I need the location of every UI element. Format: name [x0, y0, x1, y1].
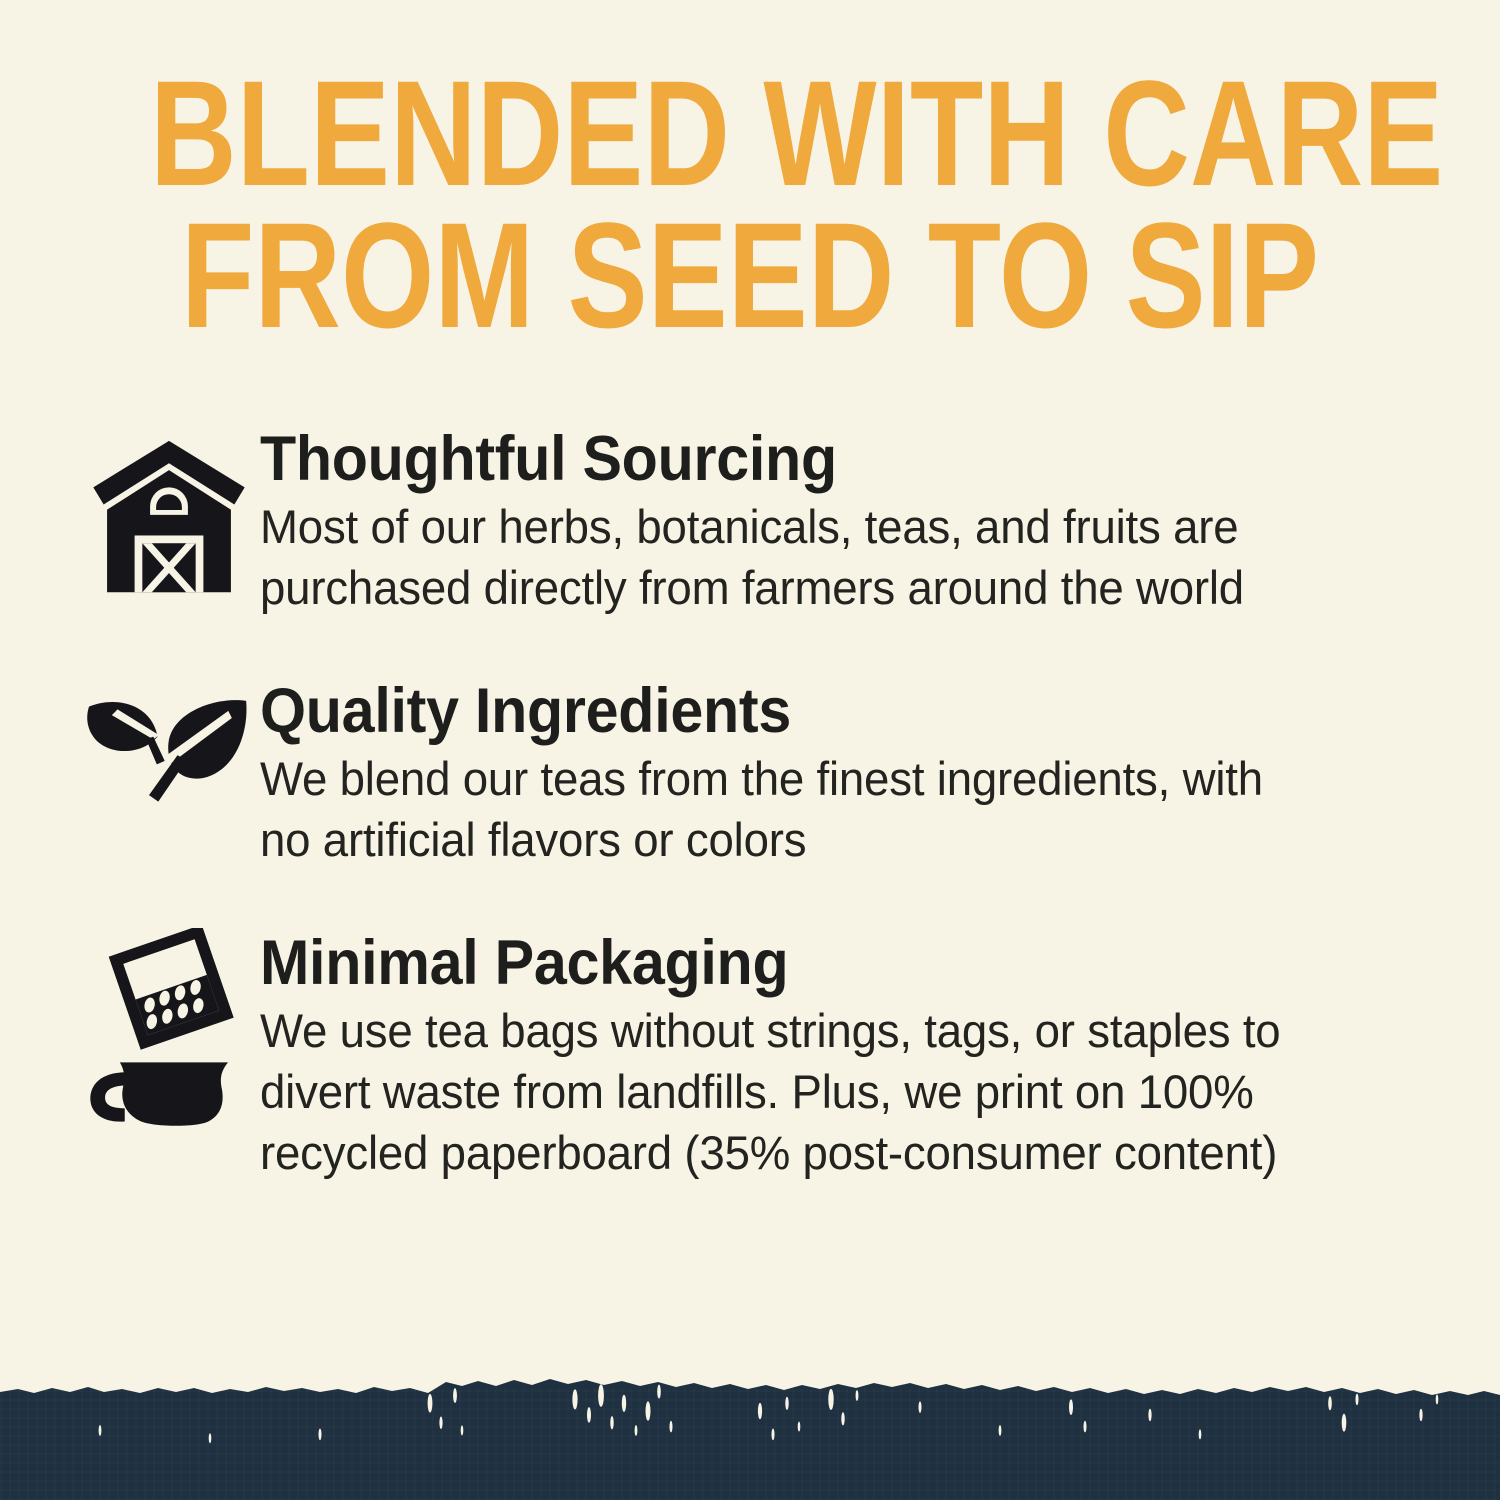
barn-icon	[78, 424, 260, 606]
feature-item-quality-ingredients: Quality Ingredients We blend our teas fr…	[0, 676, 1500, 870]
headline-line-2: From Seed To Sip	[150, 204, 1350, 346]
feature-text-block: Thoughtful Sourcing Most of our herbs, b…	[260, 424, 1500, 618]
leaves-icon	[78, 676, 260, 858]
feature-list: Thoughtful Sourcing Most of our herbs, b…	[0, 424, 1500, 1183]
feature-item-thoughtful-sourcing: Thoughtful Sourcing Most of our herbs, b…	[0, 424, 1500, 618]
feature-text-block: Quality Ingredients We blend our teas fr…	[260, 676, 1500, 870]
feature-body: We use tea bags without strings, tags, o…	[260, 1000, 1317, 1183]
headline-line-1: Blended With Care	[150, 62, 1350, 204]
feature-title: Thoughtful Sourcing	[260, 426, 1313, 492]
feature-item-minimal-packaging: Minimal Packaging We use tea bags withou…	[0, 928, 1500, 1183]
page-title: Blended With Care From Seed To Sip	[150, 62, 1350, 346]
feature-title: Minimal Packaging	[260, 930, 1313, 996]
feature-body: Most of our herbs, botanicals, teas, and…	[260, 496, 1317, 618]
feature-body: We blend our teas from the finest ingred…	[260, 748, 1317, 870]
feature-title: Quality Ingredients	[260, 678, 1313, 744]
teabag-into-mug-icon	[78, 928, 260, 1110]
poster-root: Blended With Care From Seed To Sip	[0, 0, 1500, 1500]
feature-text-block: Minimal Packaging We use tea bags withou…	[260, 928, 1500, 1183]
footer-band	[0, 1368, 1500, 1500]
